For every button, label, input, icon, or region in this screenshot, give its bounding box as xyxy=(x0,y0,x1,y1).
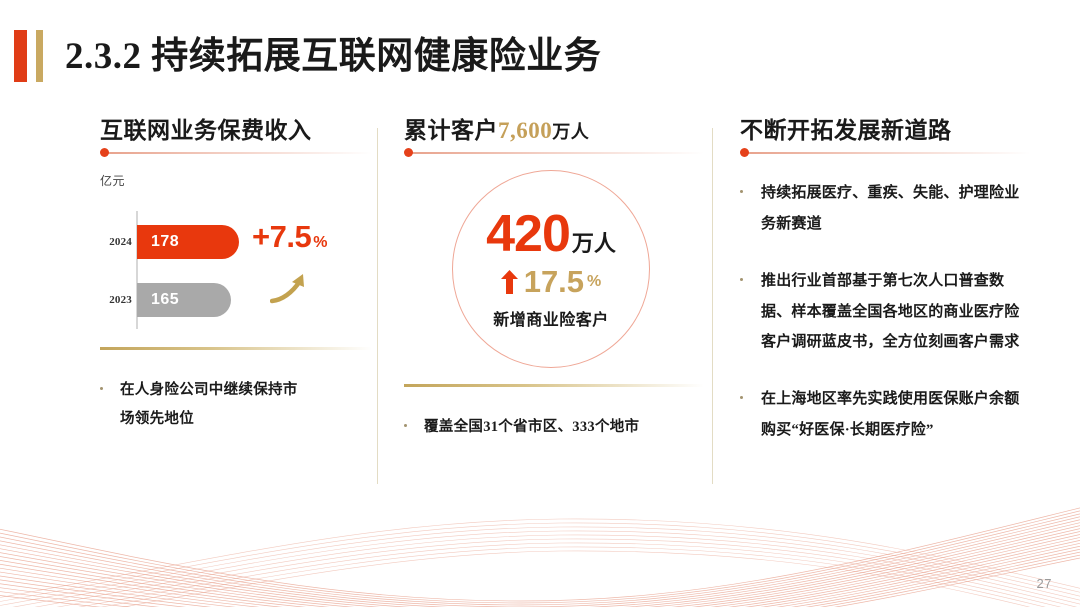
bullet-dot-icon xyxy=(740,190,743,193)
wave-decoration xyxy=(0,497,1080,607)
circle-number-unit: 万人 xyxy=(572,233,616,255)
bar-value-label: 178 xyxy=(151,233,179,251)
bar-row: 2023 165 xyxy=(100,283,231,317)
col2-heading-number: 7,600 xyxy=(498,118,552,143)
growth-value: +7.5 xyxy=(252,219,311,254)
col1-heading-rule xyxy=(100,148,372,158)
col3-heading: 不断开拓发展新道路 xyxy=(740,118,1030,143)
slide-root: 2.3.2 持续拓展互联网健康险业务 互联网业务保费收入 亿元 2024 178… xyxy=(0,0,1080,607)
circle-number: 420 xyxy=(486,208,570,260)
bullet-text: 在上海地区率先实践使用医保账户余额购买“好医保·长期医疗险” xyxy=(761,384,1030,446)
growth-percent-sign: % xyxy=(313,234,327,251)
bullet-dot-icon xyxy=(740,396,743,399)
bar-2024: 178 xyxy=(137,225,239,259)
column-premium-income: 互联网业务保费收入 亿元 2024 178 2023 165 +7.5% xyxy=(100,118,372,434)
growth-annotation: +7.5% xyxy=(252,219,327,255)
column-divider-2 xyxy=(712,128,713,484)
arrow-up-right-icon xyxy=(270,271,310,305)
arrow-up-icon xyxy=(501,270,518,294)
col1-gold-divider xyxy=(100,347,372,350)
bullet-dot-icon xyxy=(100,387,103,390)
heading-rule-line xyxy=(106,152,372,154)
premium-bar-chart: 2024 178 2023 165 +7.5% xyxy=(100,211,372,329)
page-title: 2.3.2 持续拓展互联网健康险业务 xyxy=(65,38,601,75)
bullet-dot-icon xyxy=(404,424,407,427)
customer-growth-circle: 420 万人 17.5 % 新增商业险客户 xyxy=(404,168,704,380)
page-number: 27 xyxy=(1037,576,1052,591)
col2-heading: 累计客户7,600万人 xyxy=(404,118,704,143)
col2-heading-prefix: 累计客户 xyxy=(404,118,498,143)
col3-bullet-list: 持续拓展医疗、重疾、失能、护理险业务新赛道 推出行业首部基于第七次人口普查数据、… xyxy=(740,178,1030,445)
circle-content: 420 万人 17.5 % 新增商业险客户 xyxy=(452,170,650,368)
heading-rule-dot-icon xyxy=(100,148,109,157)
col2-foot-text: 覆盖全国31个省市区、333个地市 xyxy=(424,413,639,442)
circle-caption: 新增商业险客户 xyxy=(493,306,609,330)
bar-2023: 165 xyxy=(137,283,231,317)
col1-heading: 互联网业务保费收入 xyxy=(100,118,372,143)
heading-rule-line xyxy=(410,152,704,154)
heading-rule-dot-icon xyxy=(740,148,749,157)
bar-category-label: 2023 xyxy=(100,294,132,306)
column-new-paths: 不断开拓发展新道路 持续拓展医疗、重疾、失能、护理险业务新赛道 推出行业首部基于… xyxy=(740,118,1030,472)
circle-percent-row: 17.5 % xyxy=(501,266,602,297)
column-divider-1 xyxy=(377,128,378,484)
circle-percent-sign: % xyxy=(587,273,601,291)
list-item: 在上海地区率先实践使用医保账户余额购买“好医保·长期医疗险” xyxy=(740,384,1030,446)
title-accent-bar-red xyxy=(14,30,27,82)
circle-number-row: 420 万人 xyxy=(486,208,616,260)
column-customers: 累计客户7,600万人 420 万人 17.5 % xyxy=(404,118,704,442)
slide-title-row: 2.3.2 持续拓展互联网健康险业务 xyxy=(14,28,601,84)
heading-rule-line xyxy=(746,152,1030,154)
bar-category-label: 2024 xyxy=(100,236,132,248)
title-accent-bar-gold xyxy=(36,30,43,82)
list-item: 持续拓展医疗、重疾、失能、护理险业务新赛道 xyxy=(740,178,1030,240)
bullet-text: 持续拓展医疗、重疾、失能、护理险业务新赛道 xyxy=(761,178,1030,240)
col1-foot-text: 在人身险公司中继续保持市场领先地位 xyxy=(120,376,305,434)
col2-heading-rule xyxy=(404,148,704,158)
heading-rule-dot-icon xyxy=(404,148,413,157)
circle-percent-value: 17.5 xyxy=(524,266,584,297)
bullet-dot-icon xyxy=(740,278,743,281)
col3-heading-rule xyxy=(740,148,1030,158)
list-item: 推出行业首部基于第七次人口普查数据、样本覆盖全国各地区的商业医疗险客户调研蓝皮书… xyxy=(740,266,1030,358)
bullet-text: 推出行业首部基于第七次人口普查数据、样本覆盖全国各地区的商业医疗险客户调研蓝皮书… xyxy=(761,266,1030,358)
col2-gold-divider xyxy=(404,384,704,387)
bar-row: 2024 178 xyxy=(100,225,239,259)
col2-foot-bullet: 覆盖全国31个省市区、333个地市 xyxy=(404,413,704,442)
chart-unit-label: 亿元 xyxy=(100,172,372,189)
col2-heading-suffix: 万人 xyxy=(552,122,589,142)
col1-foot-bullet: 在人身险公司中继续保持市场领先地位 xyxy=(100,376,372,434)
bar-value-label: 165 xyxy=(151,291,179,309)
